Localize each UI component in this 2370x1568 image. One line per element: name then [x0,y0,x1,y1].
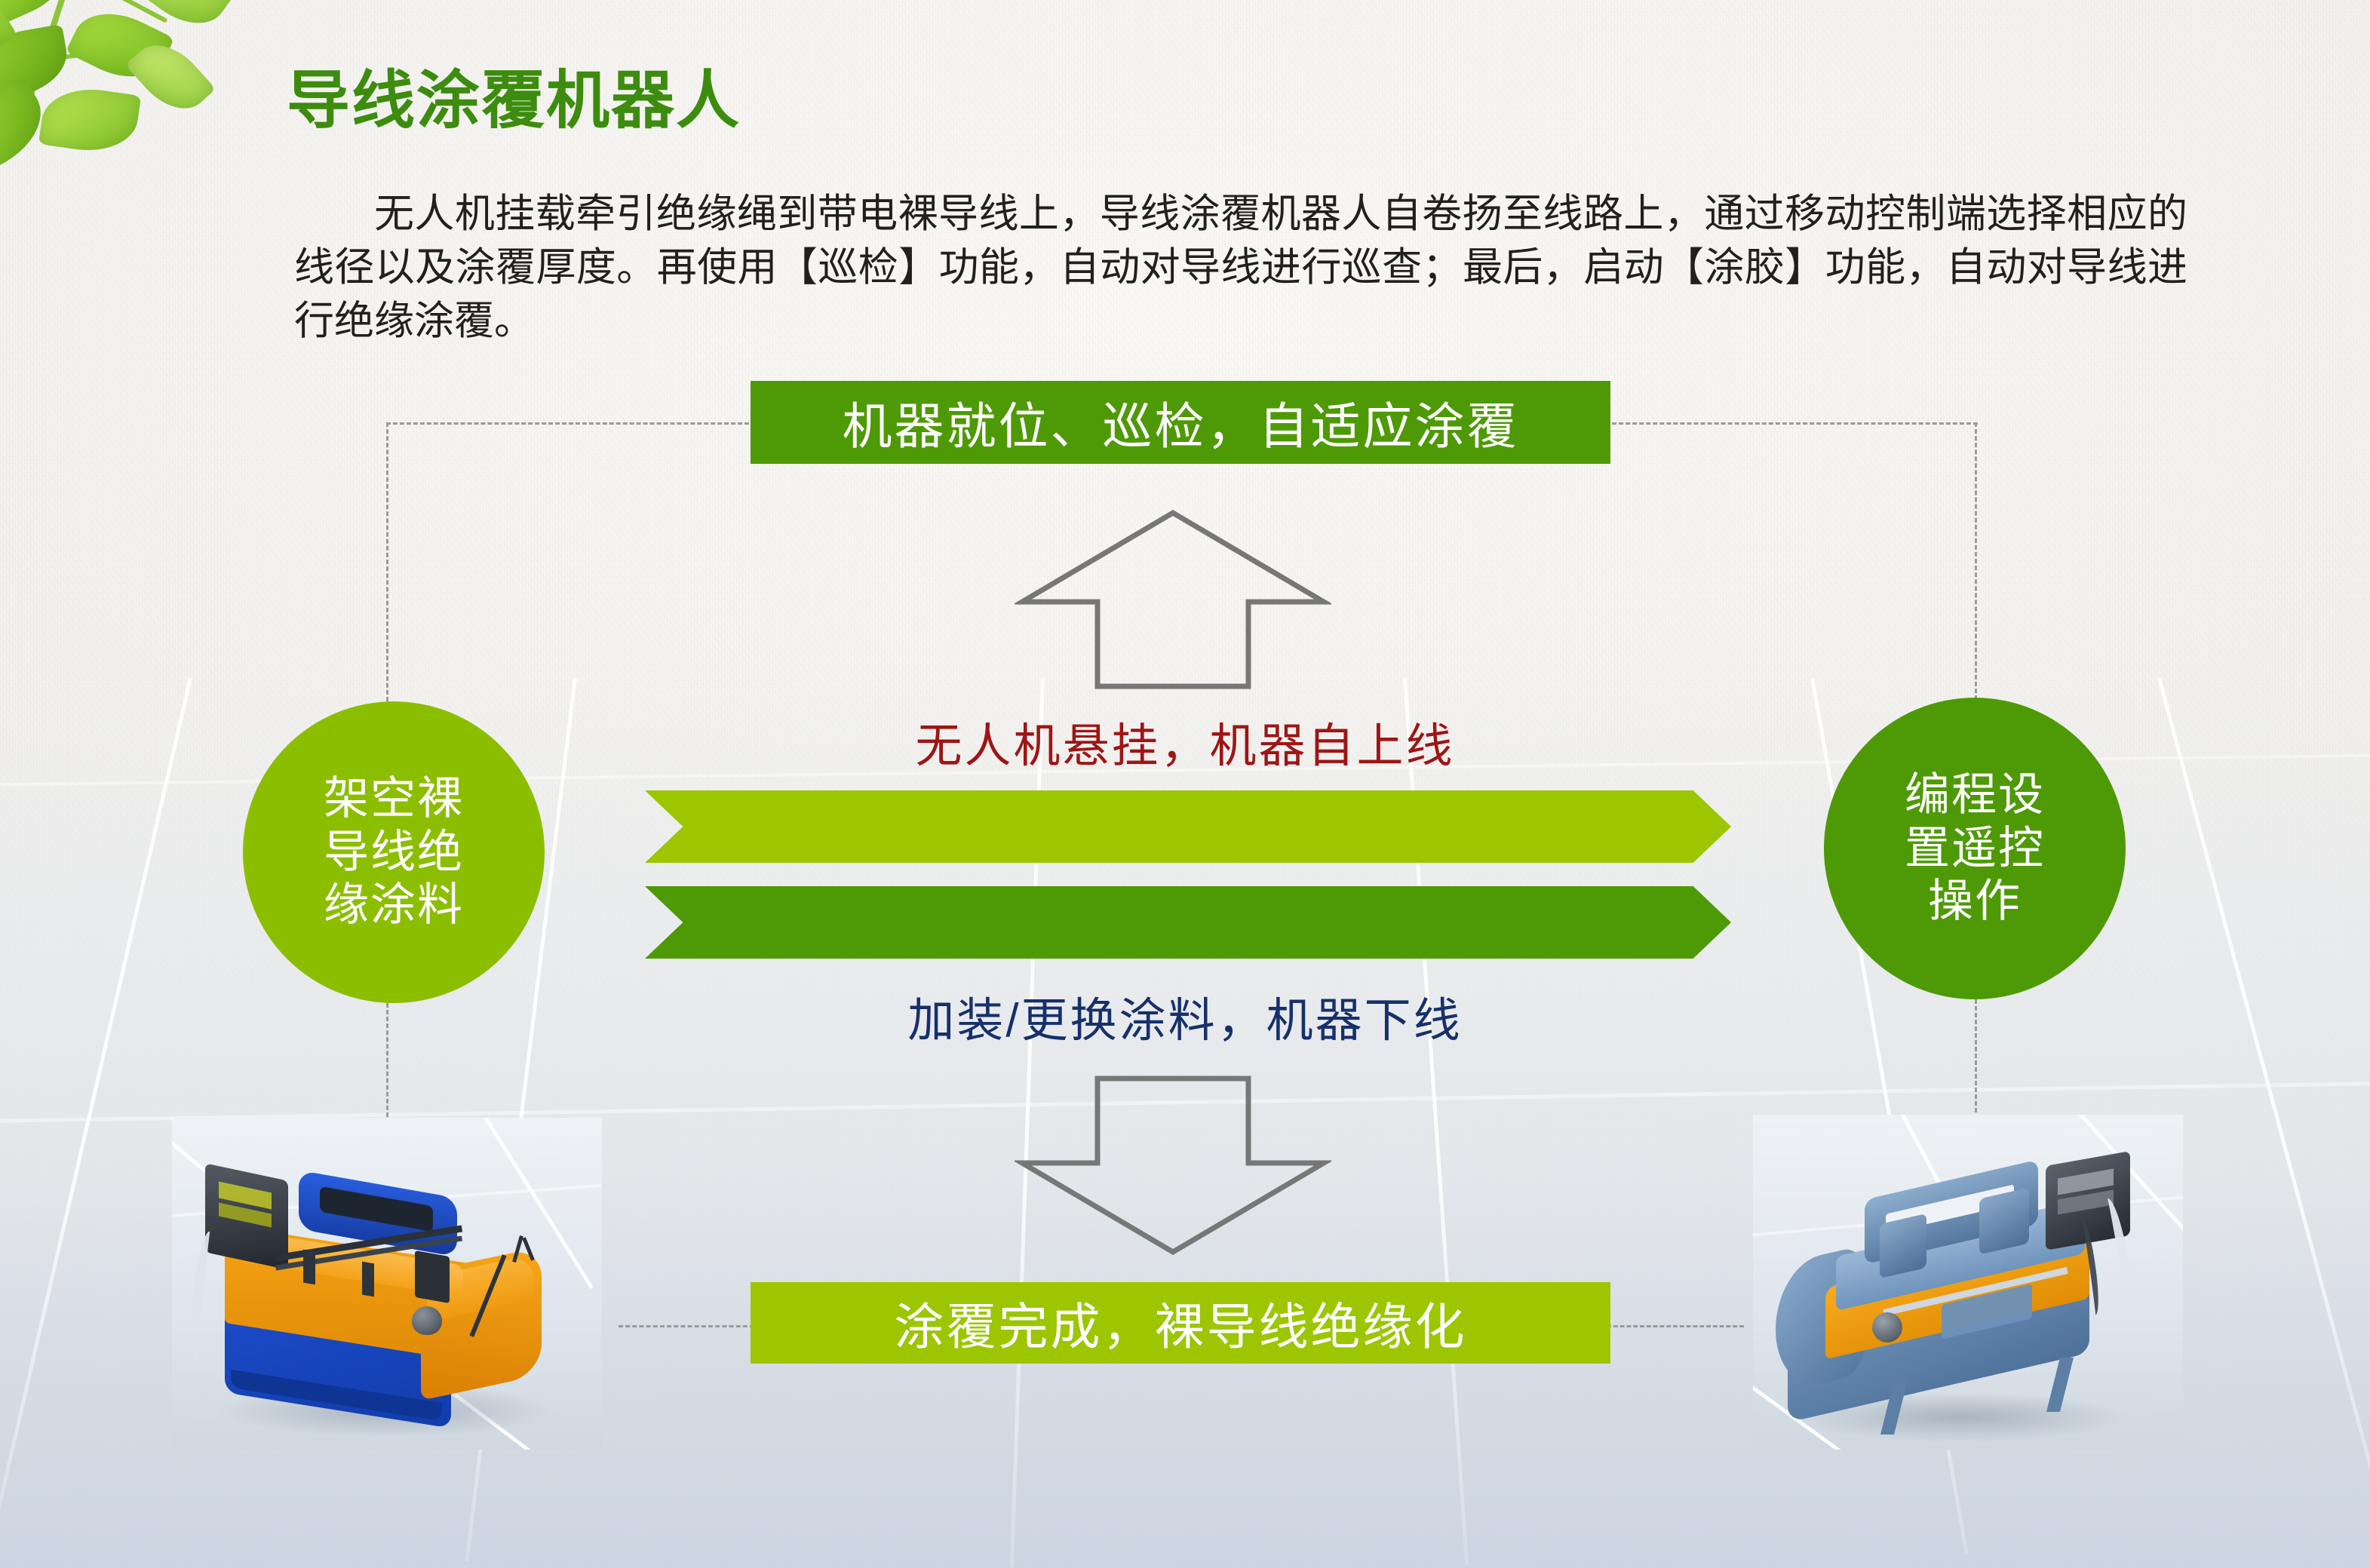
dash-connector-left-bottom-horizontal [619,1325,754,1327]
arrow-up-outline-icon [1015,505,1331,694]
chevron-right-dark-green-icon [645,886,1731,959]
robot-photo-left [172,1118,602,1450]
circle-left-label: 架空裸 导线绝 缘涂料 [324,772,464,932]
page-title: 导线涂覆机器人 [287,50,741,141]
dash-connector-left-top-vertical [386,422,388,701]
arrow-down-outline-icon [1015,1071,1331,1260]
intro-paragraph: 无人机挂载牵引绝缘绳到带电裸导线上，导线涂覆机器人自卷扬至线路上，通过移动控制端… [294,187,2187,348]
circle-right[interactable]: 编程设 置遥控 操作 [1824,698,2126,999]
chevron-right-light-green-icon [645,790,1731,863]
banner-top[interactable]: 机器就位、巡检，自适应涂覆 [751,381,1610,464]
dash-connector-right-top-horizontal [1605,422,1978,425]
dash-connector-right-bottom-horizontal [1607,1325,1744,1327]
circle-right-label: 编程设 置遥控 操作 [1905,769,2045,928]
banner-bottom[interactable]: 涂覆完成，裸导线绝缘化 [751,1282,1610,1364]
slide-canvas: 导线涂覆机器人 无人机挂载牵引绝缘绳到带电裸导线上，导线涂覆机器人自卷扬至线路上… [0,0,2370,1568]
banner-top-label: 机器就位、巡检，自适应涂覆 [843,386,1519,459]
dash-connector-right-top-vertical [1975,422,1977,700]
leaves-decoration-icon [0,0,287,234]
robot-photo-right [1753,1115,2183,1450]
banner-bottom-label: 涂覆完成，裸导线绝缘化 [895,1287,1467,1359]
dash-connector-left-top-horizontal [386,422,756,425]
circle-left[interactable]: 架空裸 导线绝 缘涂料 [243,701,545,1003]
